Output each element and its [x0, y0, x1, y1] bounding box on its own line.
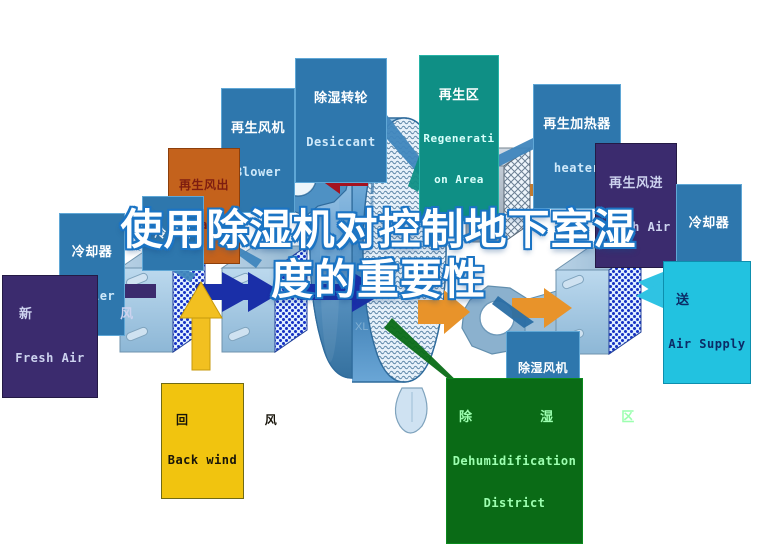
label-regeneration-area: 再生区 Regenerati on Area: [419, 55, 499, 221]
label-regeneration-heater-cn: 再生加热器: [536, 118, 618, 133]
label-regeneration-area-en1: Regenerati: [422, 133, 496, 145]
page-title: 使用除湿机对控制地下室湿 度的重要性: [0, 205, 757, 305]
label-desiccant-wheel-cn: 除湿转轮: [299, 92, 383, 107]
label-dehumidification-district-cn: 除 湿 区: [449, 411, 580, 426]
label-back-wind-en: Back wind: [164, 454, 241, 467]
diagram-canvas: XL: [0, 0, 757, 488]
label-fresh-air-inlet-en: Fresh Air: [5, 352, 95, 365]
label-regeneration-area-en2: on Area: [422, 174, 496, 186]
label-fresh-air-inlet-cn: 新 风: [5, 308, 95, 323]
page-title-line-1: 使用除湿机对控制地下室湿: [0, 205, 757, 255]
label-air-supply-en: Air Supply: [666, 338, 748, 351]
label-regeneration-area-cn: 再生区: [422, 89, 496, 104]
label-dehumidification-district: 除 湿 区 Dehumidification District: [446, 378, 583, 544]
svg-text:XL: XL: [355, 321, 368, 333]
label-regeneration-fresh-air-cn: 再生风进: [598, 177, 674, 192]
label-desiccant-wheel-en: Desiccant: [299, 136, 383, 149]
label-dehumidification-district-en2: District: [449, 497, 580, 510]
label-back-wind-cn: 回 风: [164, 414, 241, 427]
label-dehumidification-blower-cn: 除湿风机: [509, 362, 577, 375]
label-back-wind: 回 风 Back wind: [161, 383, 244, 499]
label-regeneration-blower-cn: 再生风机: [225, 122, 291, 137]
label-dehumidification-district-en1: Dehumidification: [449, 455, 580, 468]
label-desiccant-wheel: 除湿转轮 Desiccant: [295, 58, 387, 183]
label-exhaust-cn: 再生风出: [171, 179, 237, 192]
page-title-line-2: 度的重要性: [0, 255, 757, 305]
